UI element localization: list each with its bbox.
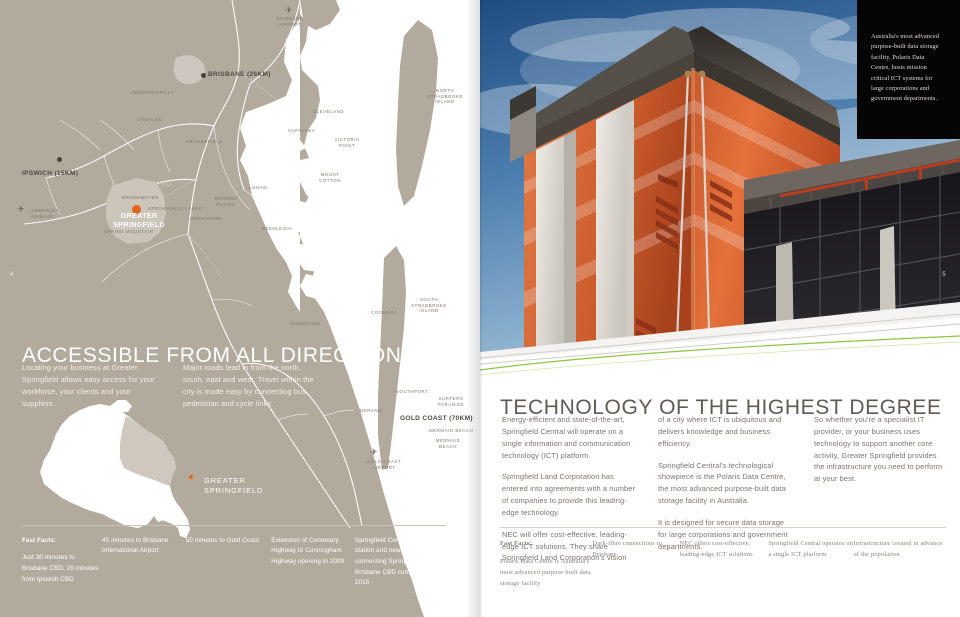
map-label-tamborine: TAMBORINE xyxy=(290,321,321,327)
fast-fact-item: Springfield Central operates on a single… xyxy=(768,538,853,589)
map-dot-brisbane xyxy=(201,73,206,78)
map-label-ipswich: IPSWICH (15km) xyxy=(22,170,78,178)
map-label-capalaba: CAPALABA xyxy=(288,128,315,134)
map-label-gold-coast-airport: GOLD COASTAIRPORT xyxy=(362,459,406,470)
map-label-springfield: SPRINGFIELD xyxy=(138,182,173,188)
map-label-nerang: NERANG xyxy=(360,408,382,414)
left-fast-facts: Fast Facts: Just 30 minutes to Brisbane … xyxy=(22,525,446,589)
right-fast-facts: Fast Facts: Polaris Data Centre is Austr… xyxy=(500,527,946,589)
map-label-indooroopilly: INDOOROOPILLY xyxy=(131,90,174,96)
map-label-victoria-point: VICTORIAPOINT xyxy=(330,137,364,148)
map-label-gold-coast: GOLD COAST (70km) xyxy=(400,415,473,423)
map-label-spring-mountain: SPRING MOUNTAIN xyxy=(104,229,153,235)
map-label-beenleigh: BEENLEIGH xyxy=(262,226,292,232)
photo-caption-box: Australia's most advanced purpose-built … xyxy=(857,0,960,139)
inset-label-greater-springfield: GREATER SPRINGFIELD xyxy=(204,476,263,496)
page-number-left: 4 xyxy=(10,272,14,278)
airplane-icon-amberley-airbase: ✈ xyxy=(17,205,25,214)
fast-fact-item: NEC offers cost-effective, leading-edge … xyxy=(680,538,769,589)
map-label-north-stradbroke-island: NORTHSTRADBROKEISLAND xyxy=(424,88,466,105)
map-label-brisbane-airport: BRISBANEAIRPORT xyxy=(268,16,312,27)
fast-facts-divider xyxy=(22,525,446,526)
map-label-greenbank: GREENBANK xyxy=(190,216,223,222)
inset-marker-greater-springfield xyxy=(189,475,193,479)
airplane-icon-gold-coast-airport: ✈ xyxy=(370,448,378,457)
map-label-greater-springfield: GREATERSPRINGFIELD xyxy=(100,211,178,229)
fast-fact-item: 50 minutes to Gold Coast xyxy=(186,536,272,589)
right-page: Australia's most advanced purpose-built … xyxy=(480,0,960,617)
fast-fact-item: Infrastructure created in advance of the… xyxy=(853,538,946,589)
fast-fact-item: Extension of Centenary Highway to Cunnin… xyxy=(271,536,355,589)
left-page: BRISBANE (26km) IPSWICH (15km) GOLD COAS… xyxy=(0,0,480,617)
polaris-data-centre-photo: Australia's most advanced purpose-built … xyxy=(480,0,960,366)
map-label-brisbane: BRISBANE (26km) xyxy=(208,71,271,79)
map-label-south-stradbroke-island: SOUTHSTRADBROKEISLAND xyxy=(408,297,450,314)
map-label-archerfield: ARCHERFIELD xyxy=(186,139,223,145)
green-accent-curve xyxy=(480,330,960,376)
map-label-springfield-lakes: SPRINGFIELD LAKES xyxy=(148,206,202,212)
map-label-amberley-airbase: AMBERLEYAIRBASE xyxy=(31,208,71,219)
map-label-logan: LOGAN xyxy=(249,185,267,191)
map-label-brookwater: BROOKWATER xyxy=(122,195,159,201)
map-label-southport: SOUTHPORT xyxy=(396,389,428,395)
fast-fact-item: 45 minutes to Brisbane International Air… xyxy=(102,536,186,589)
map-label-browns-plains: BROWNSPLAINS xyxy=(210,196,242,207)
map-label-jindalee: JINDALEE xyxy=(137,117,162,123)
magazine-spread: BRISBANE (26km) IPSWICH (15km) GOLD COAS… xyxy=(0,0,960,617)
map-label-coomera: COOMERA xyxy=(371,310,398,316)
map-label-mount-cotton: MOUNTCOTTON xyxy=(314,172,346,183)
fast-fact-item: Fast Facts: Just 30 minutes to Brisbane … xyxy=(22,536,102,589)
australia-inset-map: GREATER SPRINGFIELD xyxy=(14,398,264,543)
map-dot-ipswich xyxy=(57,157,62,162)
map-label-mermaid-beach: MERMAIDBEACH xyxy=(430,438,466,449)
map-label-surfers-paradise: SURFERSPARADISE xyxy=(432,396,470,407)
map-label-broadbeach: MERMAID BEACH xyxy=(429,428,473,434)
photo-caption-text: Australia's most advanced purpose-built … xyxy=(871,32,943,105)
page-number-right: 5 xyxy=(942,272,946,278)
fast-fact-item: Fast Facts: Polaris Data Centre is Austr… xyxy=(500,538,593,589)
airplane-icon-brisbane-airport: ✈ xyxy=(285,6,293,15)
fast-fact-item: Dark-fibre connections to Brisbane xyxy=(593,538,680,589)
fast-fact-item: Springfield Central railway station and … xyxy=(355,536,446,589)
map-label-cleveland: CLEVELAND xyxy=(313,109,344,115)
fast-facts-divider xyxy=(500,527,946,528)
